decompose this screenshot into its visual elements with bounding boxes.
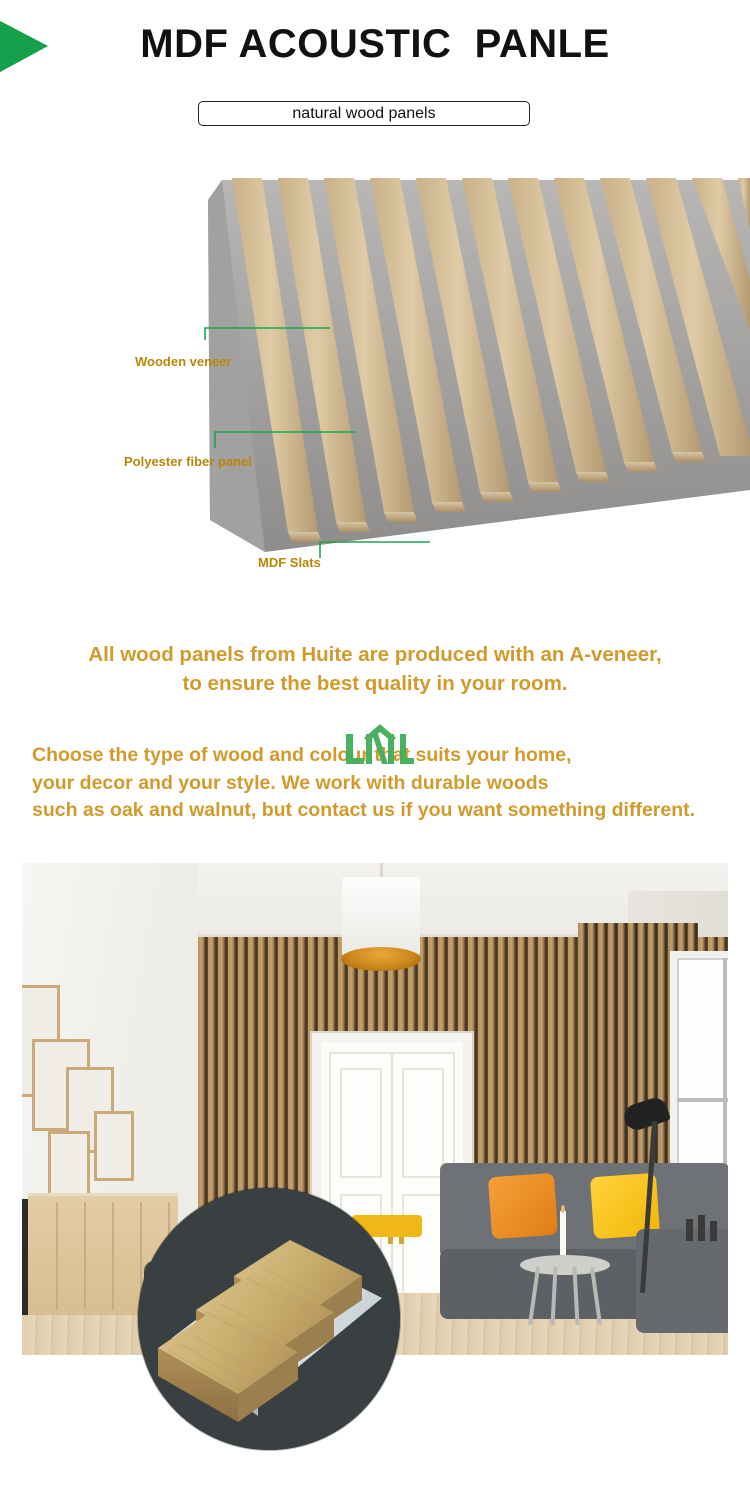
slat-closeup-inset xyxy=(138,1188,400,1450)
product-panel-illustration xyxy=(0,160,750,600)
picture-frame-group xyxy=(22,981,174,1193)
pendant-lamp-shade xyxy=(342,877,420,955)
side-table-legs xyxy=(530,1267,600,1325)
page-title: MDF ACOUSTIC PANLE xyxy=(0,22,750,67)
marketing-paragraph-2: Choose the type of wood and colour that … xyxy=(32,742,750,825)
subtitle-badge: natural wood panels xyxy=(198,101,530,126)
door-panel xyxy=(340,1068,382,1178)
sofa-chaise xyxy=(636,1229,728,1333)
cabinet-door xyxy=(32,1202,58,1310)
candlestick xyxy=(686,1219,693,1241)
cabinet-door xyxy=(88,1202,114,1310)
callout-wooden-veneer: Wooden veneer xyxy=(135,354,232,369)
table-leg xyxy=(572,1267,579,1325)
window-sill-objects xyxy=(686,1215,728,1241)
pendant-lamp-gold-interior xyxy=(341,947,421,971)
door-panel xyxy=(402,1068,444,1178)
cabinet-door xyxy=(116,1202,142,1310)
product-detail-page: MDF ACOUSTIC PANLE natural wood panels xyxy=(0,0,750,1500)
orange-pillow xyxy=(488,1173,558,1239)
candle xyxy=(560,1211,566,1255)
candlestick xyxy=(698,1215,705,1241)
candle-flame xyxy=(561,1205,565,1213)
picture-frame xyxy=(94,1111,134,1181)
candlestick xyxy=(710,1221,717,1241)
marketing-paragraph-1: All wood panels from Huite are produced … xyxy=(0,640,750,698)
callout-polyester-fiber-panel: Polyester fiber panel xyxy=(124,454,252,469)
cabinet-door xyxy=(60,1202,86,1310)
table-leg xyxy=(550,1267,557,1325)
picture-frame xyxy=(48,1131,90,1197)
table-leg xyxy=(528,1267,540,1325)
window-mullion-horizontal xyxy=(677,1098,728,1102)
callout-mdf-slats: MDF Slats xyxy=(258,555,321,570)
subtitle-label: natural wood panels xyxy=(292,105,435,123)
